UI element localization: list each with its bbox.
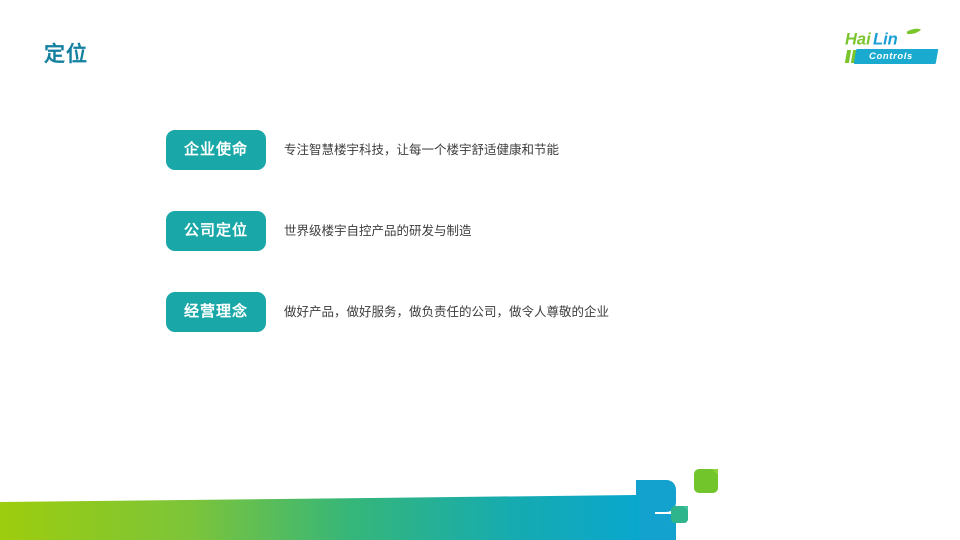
badge-company-positioning: 公司定位 <box>166 211 266 251</box>
bottom-bar-shape <box>0 495 640 540</box>
green-square-small <box>671 506 688 523</box>
slide-canvas: 定位 Hai Lin Controls 企业使命 专注智慧楼宇科技，让每一个楼宇… <box>0 0 960 540</box>
logo-stripe-icon <box>845 50 851 63</box>
green-square-large <box>694 469 718 493</box>
badge-business-philosophy: 经营理念 <box>166 292 266 332</box>
row-text-company-positioning: 世界级楼宇自控产品的研发与制造 <box>284 222 472 240</box>
logo-controls-text: Controls <box>869 49 939 64</box>
page-title: 定位 <box>44 40 88 70</box>
svg-text:Hai: Hai <box>845 31 871 49</box>
row-text-business-philosophy: 做好产品，做好服务，做负责任的公司，做令人尊敬的企业 <box>284 303 609 321</box>
badge-corporate-mission: 企业使命 <box>166 130 266 170</box>
hailin-controls-logo: Hai Lin Controls <box>845 28 937 68</box>
bottom-decoration-shapes-icon <box>0 440 960 540</box>
bottom-decoration <box>0 440 960 540</box>
row-text-corporate-mission: 专注智慧楼宇科技，让每一个楼宇舒适健康和节能 <box>284 141 559 159</box>
cyan-notch-shape <box>636 480 676 512</box>
svg-text:Lin: Lin <box>873 31 898 49</box>
